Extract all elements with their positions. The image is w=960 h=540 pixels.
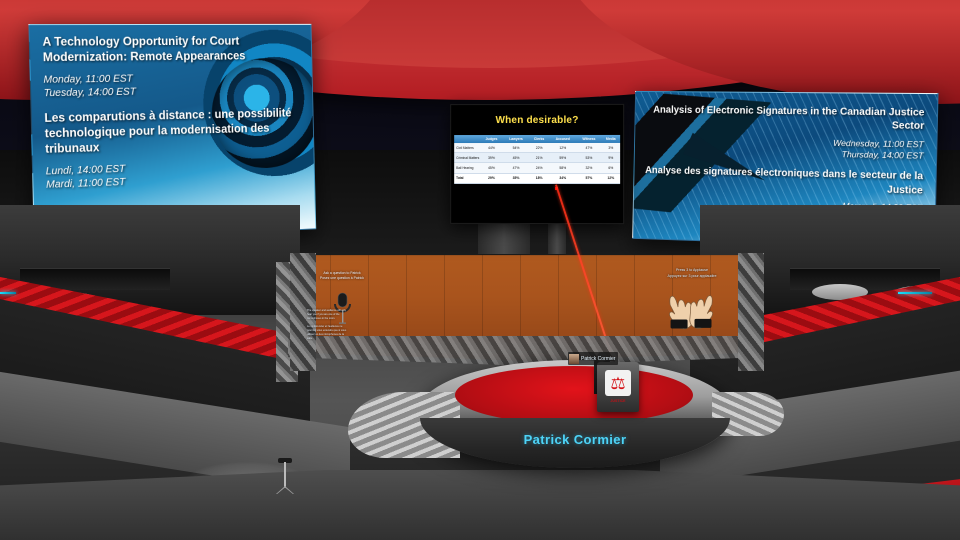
cell: 12% xyxy=(549,143,576,153)
presentation-screen[interactable]: When desirable? Judges Lawyers Clerks Ac… xyxy=(450,104,624,224)
lectern-caption: JUSTICE xyxy=(603,399,633,403)
table-col-6: Media xyxy=(602,135,621,143)
table-col-2: Lawyers xyxy=(503,135,529,143)
microphone-note: The speaker and audience will only hear … xyxy=(307,309,347,341)
stage-speaker-name: Patrick Cormier xyxy=(420,432,730,447)
left-led-strip xyxy=(0,292,16,294)
cell: 3% xyxy=(602,143,621,153)
banner-right-title-fr: Analyse des signatures électroniques dan… xyxy=(634,164,923,198)
table-row: Bail Hearing 45% 47% 24% 58% 32% 6% xyxy=(454,163,620,173)
cell: 39% xyxy=(480,153,503,163)
table-col-1: Judges xyxy=(480,135,503,143)
cell: 47% xyxy=(503,163,529,173)
cell: 24% xyxy=(529,163,549,173)
cell: 35% xyxy=(503,173,529,183)
survey-results-table: Judges Lawyers Clerks Accused Witness Me… xyxy=(454,135,620,184)
dais-red-carpet xyxy=(455,366,693,424)
cell: 57% xyxy=(576,173,601,183)
table-col-0 xyxy=(454,135,480,143)
cell: 54% xyxy=(503,143,529,153)
applause-label[interactable]: Press 3 to Applause Appuyez sur 3 pour a… xyxy=(654,268,730,279)
cell: 32% xyxy=(576,163,601,173)
cell: 45% xyxy=(503,153,529,163)
row-label: Bail Hearing xyxy=(454,163,480,173)
scales-of-justice-icon: ⚖ xyxy=(605,370,631,396)
ask-question-label[interactable]: Ask a question to Patrick Posez une ques… xyxy=(309,271,375,281)
banner-right-title-en: Analysis of Electronic Signatures in the… xyxy=(635,104,924,134)
ask-question-label-fr: Posez une question à Patrick xyxy=(309,276,375,281)
cell: 47% xyxy=(576,143,601,153)
foreground-floor xyxy=(0,470,960,540)
right-led-strip xyxy=(898,292,932,294)
cell: 29% xyxy=(480,173,503,183)
table-col-3: Clerks xyxy=(529,135,549,143)
row-label: Civil Matters xyxy=(454,143,480,153)
cell: 44% xyxy=(480,143,503,153)
screen-support-right xyxy=(548,224,566,254)
cell: 21% xyxy=(529,153,549,163)
virtual-auditorium-scene: A Technology Opportunity for Court Moder… xyxy=(0,0,960,540)
cell: 53% xyxy=(576,153,601,163)
avatar-nametag[interactable]: Patrick Cormier xyxy=(568,352,618,365)
row-label: Criminal Matters xyxy=(454,153,480,163)
slide-title: When desirable? xyxy=(451,115,623,126)
cell: 45% xyxy=(480,163,503,173)
banner-left-title-en: A Technology Opportunity for Court Moder… xyxy=(42,35,300,67)
cell: 34% xyxy=(549,173,576,183)
table-row: Criminal Matters 39% 45% 21% 59% 53% 9% xyxy=(454,153,620,163)
table-header-row: Judges Lawyers Clerks Accused Witness Me… xyxy=(454,135,620,143)
cell: 6% xyxy=(602,163,621,173)
cell: 58% xyxy=(549,163,576,173)
table-col-4: Accused xyxy=(549,135,576,143)
mic-stand-pole xyxy=(284,462,286,488)
podium-column-right xyxy=(738,253,764,371)
cell: 12% xyxy=(602,173,621,183)
microphone-note-fr: Le conférencier et l'audience ne pourron… xyxy=(307,325,347,341)
cell: 22% xyxy=(529,143,549,153)
screen-support-left xyxy=(478,224,530,254)
avatar-photo xyxy=(569,354,579,364)
clapping-hands-icon[interactable] xyxy=(662,288,720,332)
cell: 59% xyxy=(549,153,576,163)
table-col-5: Witness xyxy=(576,135,601,143)
microphone-note-en: The speaker and audience will only hear … xyxy=(307,309,347,321)
cell: 18% xyxy=(529,173,549,183)
table-row: Total 29% 35% 18% 34% 57% 12% xyxy=(454,173,620,183)
cell: 9% xyxy=(602,153,621,163)
row-label: Total xyxy=(454,173,480,183)
applause-label-fr: Appuyez sur 3 pour applaudire xyxy=(654,274,730,280)
table-row: Civil Matters 44% 54% 22% 12% 47% 3% xyxy=(454,143,620,153)
banner-left-title-fr: Les comparutions à distance : une possib… xyxy=(44,107,302,158)
avatar-nametag-label: Patrick Cormier xyxy=(581,356,615,362)
